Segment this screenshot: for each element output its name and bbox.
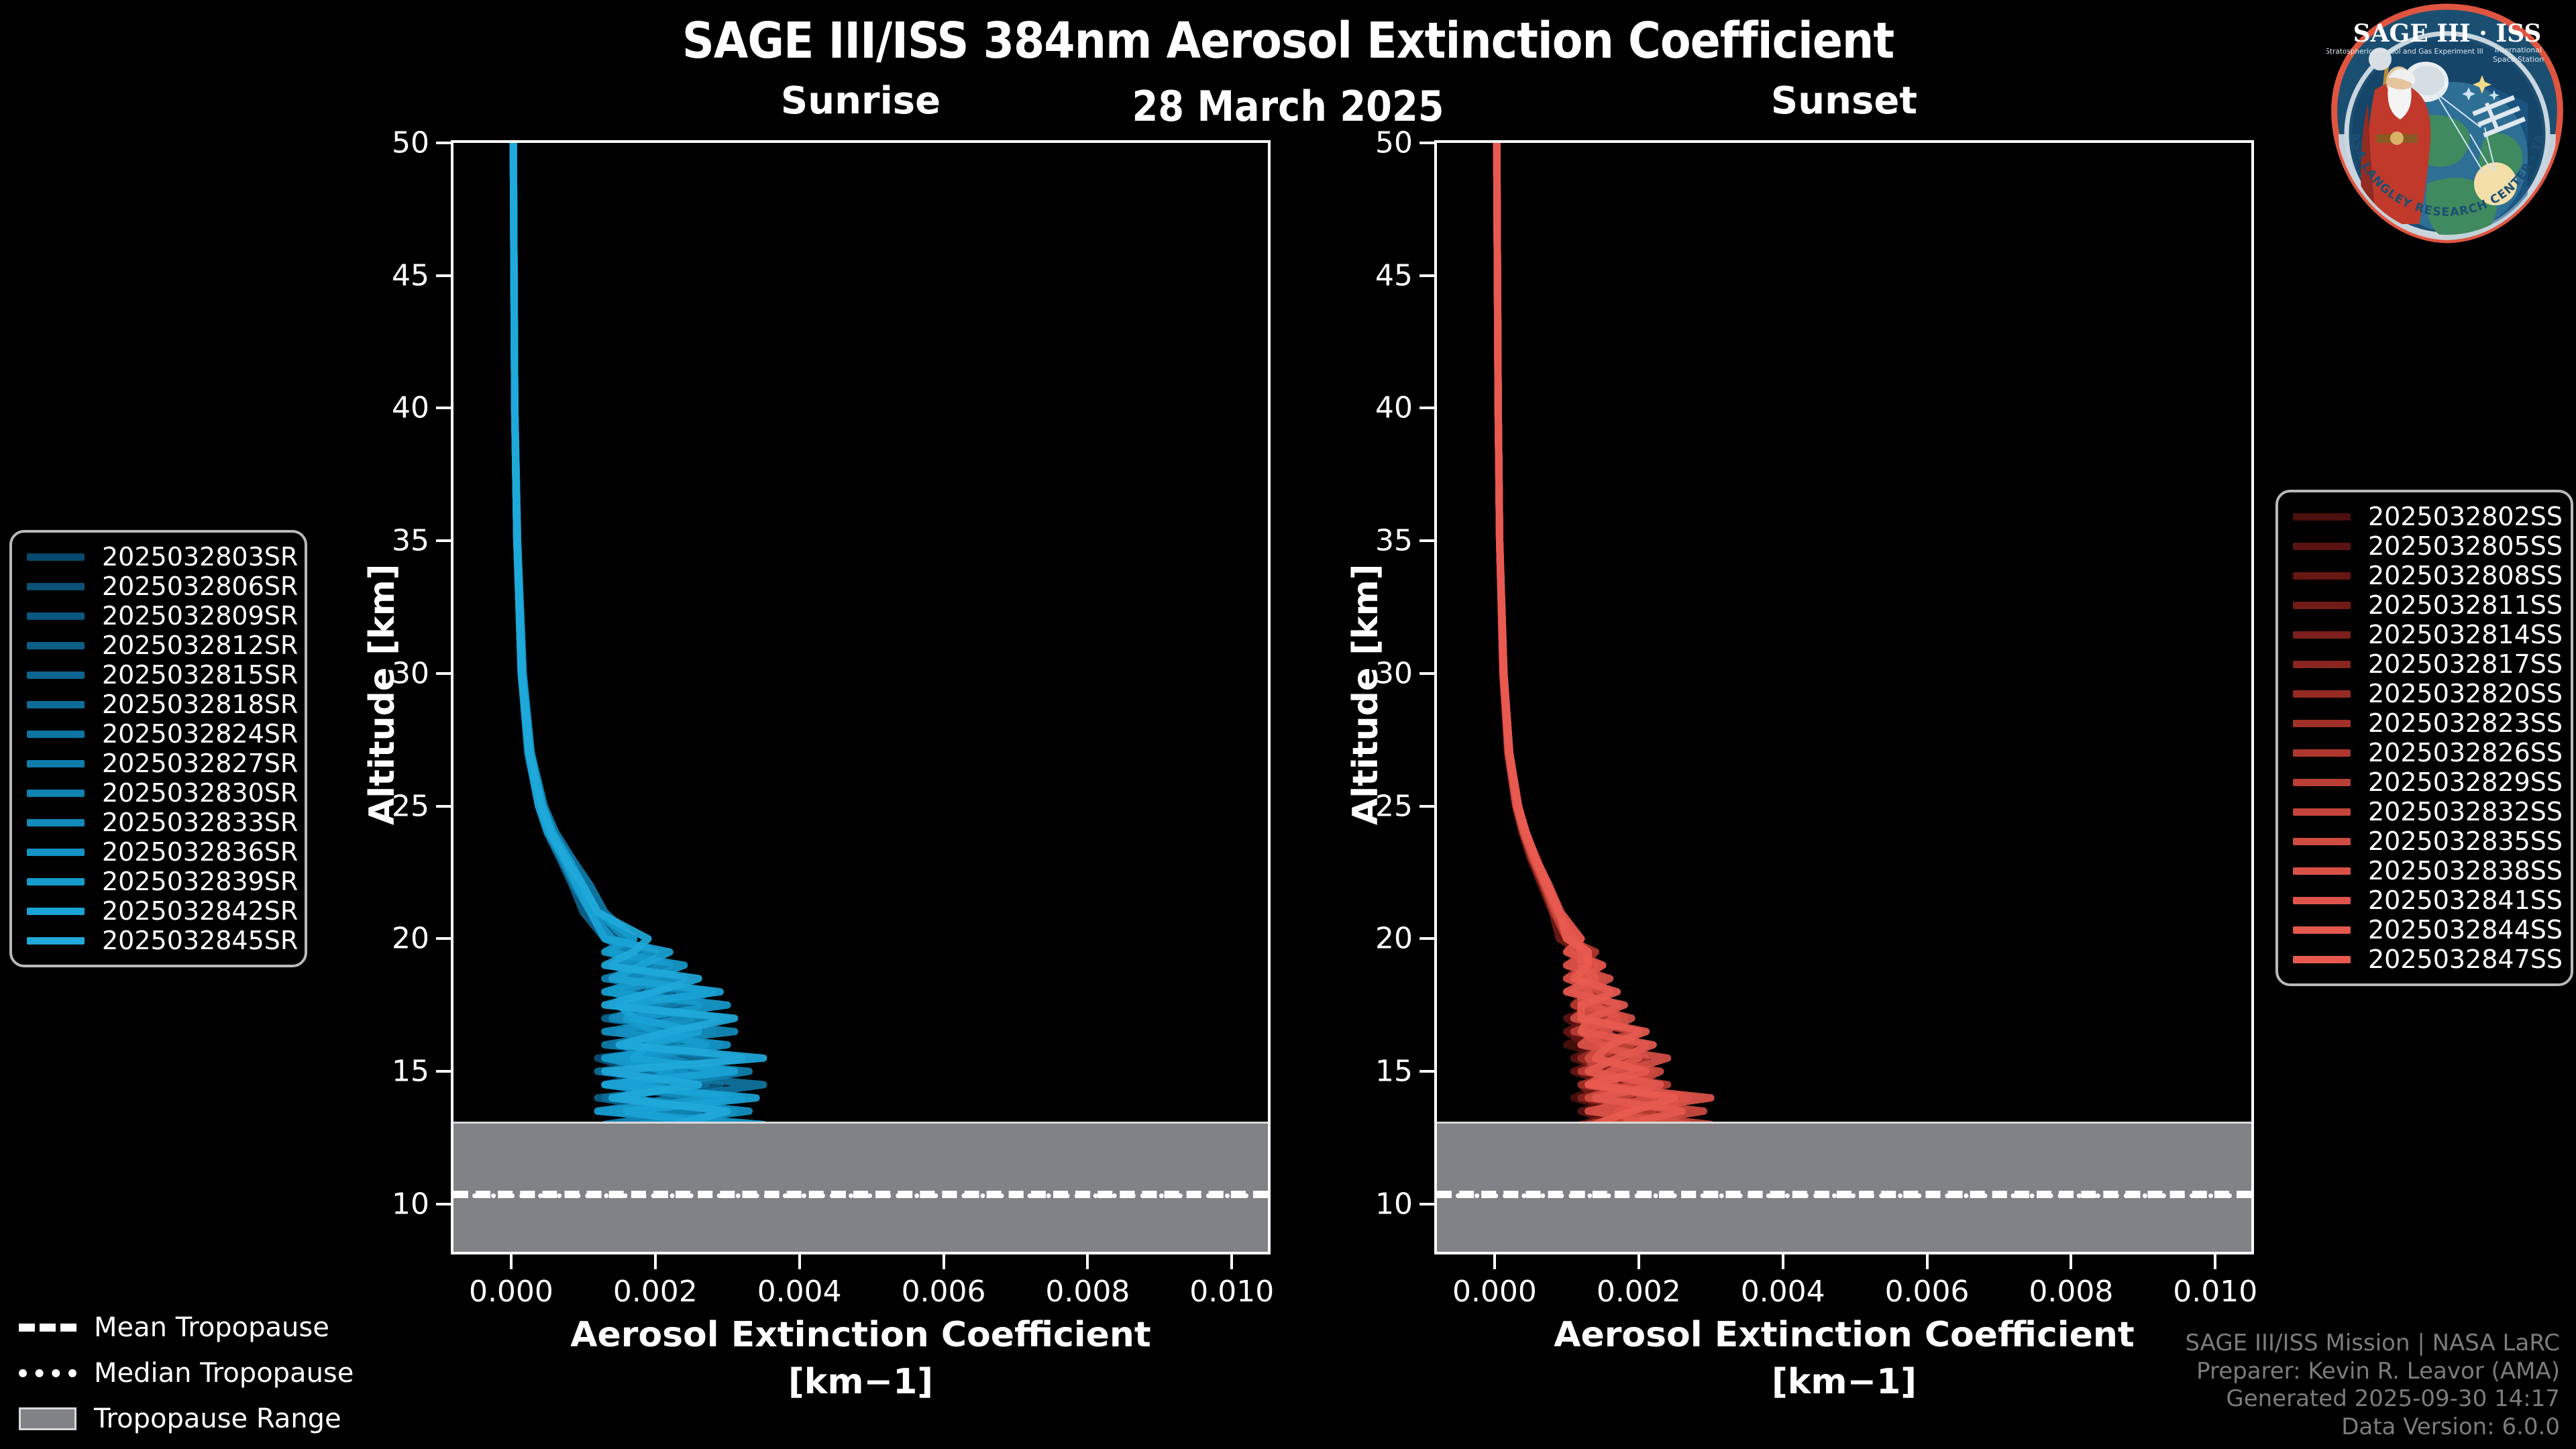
y-tick	[436, 672, 451, 675]
x-tick	[654, 1254, 657, 1269]
legend-item[interactable]: 2025032841SS	[2293, 885, 2556, 915]
legend-item[interactable]: 2025032830SR	[27, 778, 290, 808]
y-tick-label: 20	[343, 922, 429, 956]
y-tick	[1419, 805, 1434, 808]
legend-item-label: 2025032847SS	[2368, 945, 2563, 974]
credits-block: SAGE III/ISS Mission | NASA LaRC Prepare…	[2185, 1330, 2560, 1441]
legend-item-label: 2025032829SS	[2368, 767, 2563, 797]
legend-item-label: 2025032830SR	[102, 778, 298, 808]
x-axis-title-sunrise-line1: Aerosol Extinction Coefficient	[570, 1315, 1151, 1355]
y-tick-label: 20	[1327, 922, 1413, 956]
y-tick	[1419, 274, 1434, 277]
tropopause-line-swatch	[19, 1369, 76, 1377]
x-tick-label: 0.002	[1597, 1275, 1681, 1309]
x-tick	[2214, 1254, 2216, 1269]
legend-item-label: 2025032824SR	[102, 719, 298, 749]
y-axis-title-sunset: Altitude [km]	[1346, 563, 1386, 825]
y-tick	[1419, 937, 1434, 940]
legend-tropopause[interactable]: Mean TropopauseMedian TropopauseTropopau…	[19, 1305, 368, 1442]
legend-color-swatch	[27, 937, 85, 945]
legend-item-label: Tropopause Range	[94, 1403, 341, 1434]
legend-item-label: 2025032815SR	[102, 660, 298, 690]
x-tick	[943, 1254, 945, 1269]
legend-item-label: Median Tropopause	[94, 1358, 354, 1389]
y-tick	[1419, 539, 1434, 542]
legend-item[interactable]: 2025032818SR	[27, 690, 290, 719]
x-tick	[1086, 1254, 1089, 1269]
y-axis-title-sunrise: Altitude [km]	[362, 563, 402, 825]
tropopause-range-swatch	[19, 1407, 76, 1430]
legend-item[interactable]: 2025032838SS	[2293, 856, 2556, 885]
plot-clip-sunrise	[453, 143, 1268, 1252]
tropopause-range-band-sunset	[1437, 1122, 2251, 1252]
legend-color-swatch	[2293, 956, 2351, 963]
legend-color-swatch	[2293, 779, 2351, 786]
y-tick-label: 35	[1327, 524, 1413, 558]
y-tick	[436, 937, 451, 940]
legend-item[interactable]: 2025032815SR	[27, 660, 290, 690]
legend-item[interactable]: 2025032827SR	[27, 749, 290, 778]
legend-item[interactable]: 2025032847SS	[2293, 945, 2556, 974]
legend-item-label: 2025032826SS	[2368, 738, 2563, 767]
legend-item-label: 2025032812SR	[102, 631, 298, 660]
tropopause-range-band-sunrise	[453, 1122, 1268, 1252]
legend-item-label: 2025032820SS	[2368, 679, 2563, 708]
x-axis-title-sunrise-line2: [km−1]	[788, 1362, 933, 1402]
legend-item-label: 2025032803SR	[102, 542, 298, 572]
y-tick	[1419, 407, 1434, 409]
legend-item-label: 2025032818SR	[102, 690, 298, 719]
plot-area-sunset	[1434, 140, 2254, 1254]
legend-item[interactable]: 2025032820SS	[2293, 679, 2556, 708]
legend-color-swatch	[2293, 808, 2351, 816]
credits-line-generated: Generated 2025-09-30 14:17	[2185, 1385, 2560, 1413]
legend-item-label: 2025032841SS	[2368, 885, 2563, 915]
legend-color-swatch	[2293, 690, 2351, 698]
y-tick-label: 40	[343, 391, 429, 425]
legend-color-swatch	[27, 731, 85, 738]
legend-color-swatch	[2293, 602, 2351, 609]
legend-color-swatch	[2293, 513, 2351, 521]
legend-item-label: 2025032802SS	[2368, 502, 2563, 531]
legend-color-swatch	[2293, 572, 2351, 580]
legend-item[interactable]: 2025032832SS	[2293, 797, 2556, 826]
credits-line-mission: SAGE III/ISS Mission | NASA LaRC	[2185, 1330, 2560, 1357]
x-tick-label: 0.010	[1189, 1275, 1274, 1309]
legend-sunset[interactable]: 2025032802SS2025032805SS2025032808SS2025…	[2275, 490, 2573, 986]
y-tick-label: 15	[1327, 1055, 1413, 1089]
y-tick-label: 15	[343, 1055, 429, 1089]
x-tick-label: 0.006	[902, 1275, 986, 1309]
legend-item-label: 2025032844SS	[2368, 915, 2563, 945]
credits-line-preparer: Preparer: Kevin R. Leavor (AMA)	[2185, 1358, 2560, 1385]
legend-item[interactable]: 2025032833SR	[27, 808, 290, 837]
legend-item-label: 2025032836SR	[102, 837, 298, 867]
legend-item-label: 2025032811SS	[2368, 590, 2563, 620]
legend-item-label: 2025032832SS	[2368, 797, 2563, 826]
legend-item[interactable]: 2025032814SS	[2293, 620, 2556, 649]
legend-color-swatch	[27, 701, 85, 708]
x-tick-label: 0.004	[1741, 1275, 1825, 1309]
legend-color-swatch	[27, 908, 85, 915]
y-tick	[436, 1070, 451, 1073]
y-tick	[436, 539, 451, 542]
y-tick	[436, 407, 451, 409]
page-title: SAGE III/ISS 384nm Aerosol Extinction Co…	[0, 12, 2576, 70]
y-tick-label: 35	[343, 524, 429, 558]
x-tick	[2070, 1254, 2072, 1269]
credits-line-version: Data Version: 6.0.0	[2185, 1413, 2560, 1441]
x-tick	[798, 1254, 801, 1269]
x-tick	[1493, 1254, 1496, 1269]
legend-item[interactable]: 2025032811SS	[2293, 590, 2556, 620]
median-tropopause-line-sunrise	[453, 1193, 1268, 1198]
y-tick	[1419, 672, 1434, 675]
legend-color-swatch	[2293, 631, 2351, 639]
legend-item[interactable]: 2025032803SR	[27, 542, 290, 572]
legend-item[interactable]: 2025032844SS	[2293, 915, 2556, 945]
legend-color-swatch	[2293, 661, 2351, 668]
legend-item[interactable]: 2025032823SS	[2293, 708, 2556, 738]
plot-clip-sunset	[1437, 143, 2251, 1252]
legend-color-swatch	[27, 878, 85, 885]
y-tick	[436, 142, 451, 144]
x-tick	[1230, 1254, 1233, 1269]
legend-color-swatch	[27, 819, 85, 826]
legend-item[interactable]: Mean Tropopause	[19, 1305, 368, 1350]
legend-item[interactable]: 2025032824SR	[27, 719, 290, 749]
logo-subtitle-right-1: International	[2495, 46, 2542, 54]
legend-color-swatch	[27, 612, 85, 620]
y-tick	[436, 1203, 451, 1205]
legend-item[interactable]: 2025032829SS	[2293, 767, 2556, 797]
legend-item[interactable]: 2025032835SS	[2293, 826, 2556, 856]
y-tick-label: 45	[1327, 258, 1413, 292]
legend-item[interactable]: Tropopause Range	[19, 1396, 368, 1442]
legend-item-label: 2025032842SR	[102, 896, 298, 926]
logo-title: SAGE III · ISS	[2353, 19, 2542, 48]
legend-color-swatch	[2293, 543, 2351, 550]
legend-item-label: 2025032808SS	[2368, 561, 2563, 590]
y-tick-label: 10	[343, 1187, 429, 1221]
y-tick-label: 40	[1327, 391, 1413, 425]
x-axis-title-sunset-line1: Aerosol Extinction Coefficient	[1554, 1315, 2135, 1355]
legend-color-swatch	[27, 760, 85, 767]
legend-item[interactable]: 2025032812SR	[27, 631, 290, 660]
legend-item-label: 2025032814SS	[2368, 620, 2563, 649]
legend-color-swatch	[27, 790, 85, 797]
x-tick-label: 0.010	[2173, 1275, 2257, 1309]
legend-color-swatch	[27, 849, 85, 856]
legend-item-label: 2025032805SS	[2368, 531, 2563, 561]
legend-color-swatch	[27, 642, 85, 649]
legend-item-label: 2025032835SS	[2368, 826, 2563, 856]
legend-color-swatch	[2293, 897, 2351, 904]
legend-item-label: 2025032809SR	[102, 601, 298, 631]
legend-color-swatch	[27, 672, 85, 679]
legend-item-label: 2025032823SS	[2368, 708, 2563, 738]
panel-title-sunset: Sunset	[1434, 79, 2254, 123]
tropopause-line-swatch	[19, 1324, 76, 1332]
y-tick-label: 10	[1327, 1187, 1413, 1221]
x-axis-title-sunset-line2: [km−1]	[1772, 1362, 1917, 1402]
y-tick	[1419, 142, 1434, 144]
panel-title-sunrise: Sunrise	[451, 79, 1271, 123]
legend-color-swatch	[27, 583, 85, 590]
y-tick	[436, 805, 451, 808]
sage-iii-iss-mission-patch-logo: SAGE III · ISS Stratospheric Aerosol and…	[2326, 3, 2568, 244]
legend-item-label: 2025032845SR	[102, 926, 298, 955]
x-tick-label: 0.000	[1452, 1275, 1537, 1309]
x-tick	[1782, 1254, 1784, 1269]
legend-item[interactable]: 2025032809SR	[27, 601, 290, 631]
legend-item-label: 2025032817SS	[2368, 649, 2563, 679]
legend-color-swatch	[2293, 926, 2351, 934]
y-tick	[1419, 1203, 1434, 1205]
legend-item[interactable]: 2025032845SR	[27, 926, 290, 955]
legend-color-swatch	[2293, 867, 2351, 875]
legend-item-label: 2025032839SR	[102, 867, 298, 896]
x-tick-label: 0.002	[613, 1275, 698, 1309]
x-tick-label: 0.004	[757, 1275, 842, 1309]
y-tick-label: 50	[1327, 126, 1413, 160]
legend-sunrise[interactable]: 2025032803SR2025032806SR2025032809SR2025…	[9, 530, 307, 967]
legend-item-label: 2025032838SS	[2368, 856, 2563, 885]
legend-item[interactable]: 2025032839SR	[27, 867, 290, 896]
series-line	[1497, 143, 1768, 1230]
legend-color-swatch	[2293, 749, 2351, 757]
legend-item[interactable]: Median Tropopause	[19, 1350, 368, 1396]
legend-item[interactable]: 2025032808SS	[2293, 561, 2556, 590]
legend-item-label: 2025032827SR	[102, 749, 298, 778]
legend-item-label: Mean Tropopause	[94, 1312, 329, 1343]
y-tick-label: 45	[343, 258, 429, 292]
legend-item[interactable]: 2025032826SS	[2293, 738, 2556, 767]
legend-item[interactable]: 2025032806SR	[27, 572, 290, 601]
series-lines-sunrise	[453, 143, 1268, 1252]
legend-item-label: 2025032806SR	[102, 572, 298, 601]
legend-item[interactable]: 2025032817SS	[2293, 649, 2556, 679]
logo-subtitle-left: Stratospheric Aerosol and Gas Experiment…	[2326, 48, 2483, 56]
plot-area-sunrise	[451, 140, 1271, 1254]
x-tick-label: 0.000	[469, 1275, 553, 1309]
x-tick-label: 0.006	[1885, 1275, 1970, 1309]
series-lines-sunset	[1437, 143, 2251, 1252]
legend-item-label: 2025032833SR	[102, 808, 298, 837]
logo-subtitle-right-2: Space Station	[2493, 55, 2544, 64]
legend-color-swatch	[27, 553, 85, 561]
legend-color-swatch	[2293, 838, 2351, 845]
x-tick	[510, 1254, 513, 1269]
x-tick-label: 0.008	[2029, 1275, 2113, 1309]
legend-color-swatch	[2293, 720, 2351, 727]
y-tick	[436, 274, 451, 277]
legend-item[interactable]: 2025032842SR	[27, 896, 290, 926]
median-tropopause-line-sunset	[1437, 1193, 2251, 1198]
x-tick-label: 0.008	[1045, 1275, 1130, 1309]
legend-item[interactable]: 2025032836SR	[27, 837, 290, 867]
legend-item[interactable]: 2025032805SS	[2293, 531, 2556, 561]
y-tick	[1419, 1070, 1434, 1073]
x-tick	[1926, 1254, 1929, 1269]
legend-item[interactable]: 2025032802SS	[2293, 502, 2556, 531]
logo-svg: SAGE III · ISS Stratospheric Aerosol and…	[2326, 3, 2568, 244]
x-tick	[1638, 1254, 1640, 1269]
y-tick-label: 50	[343, 126, 429, 160]
